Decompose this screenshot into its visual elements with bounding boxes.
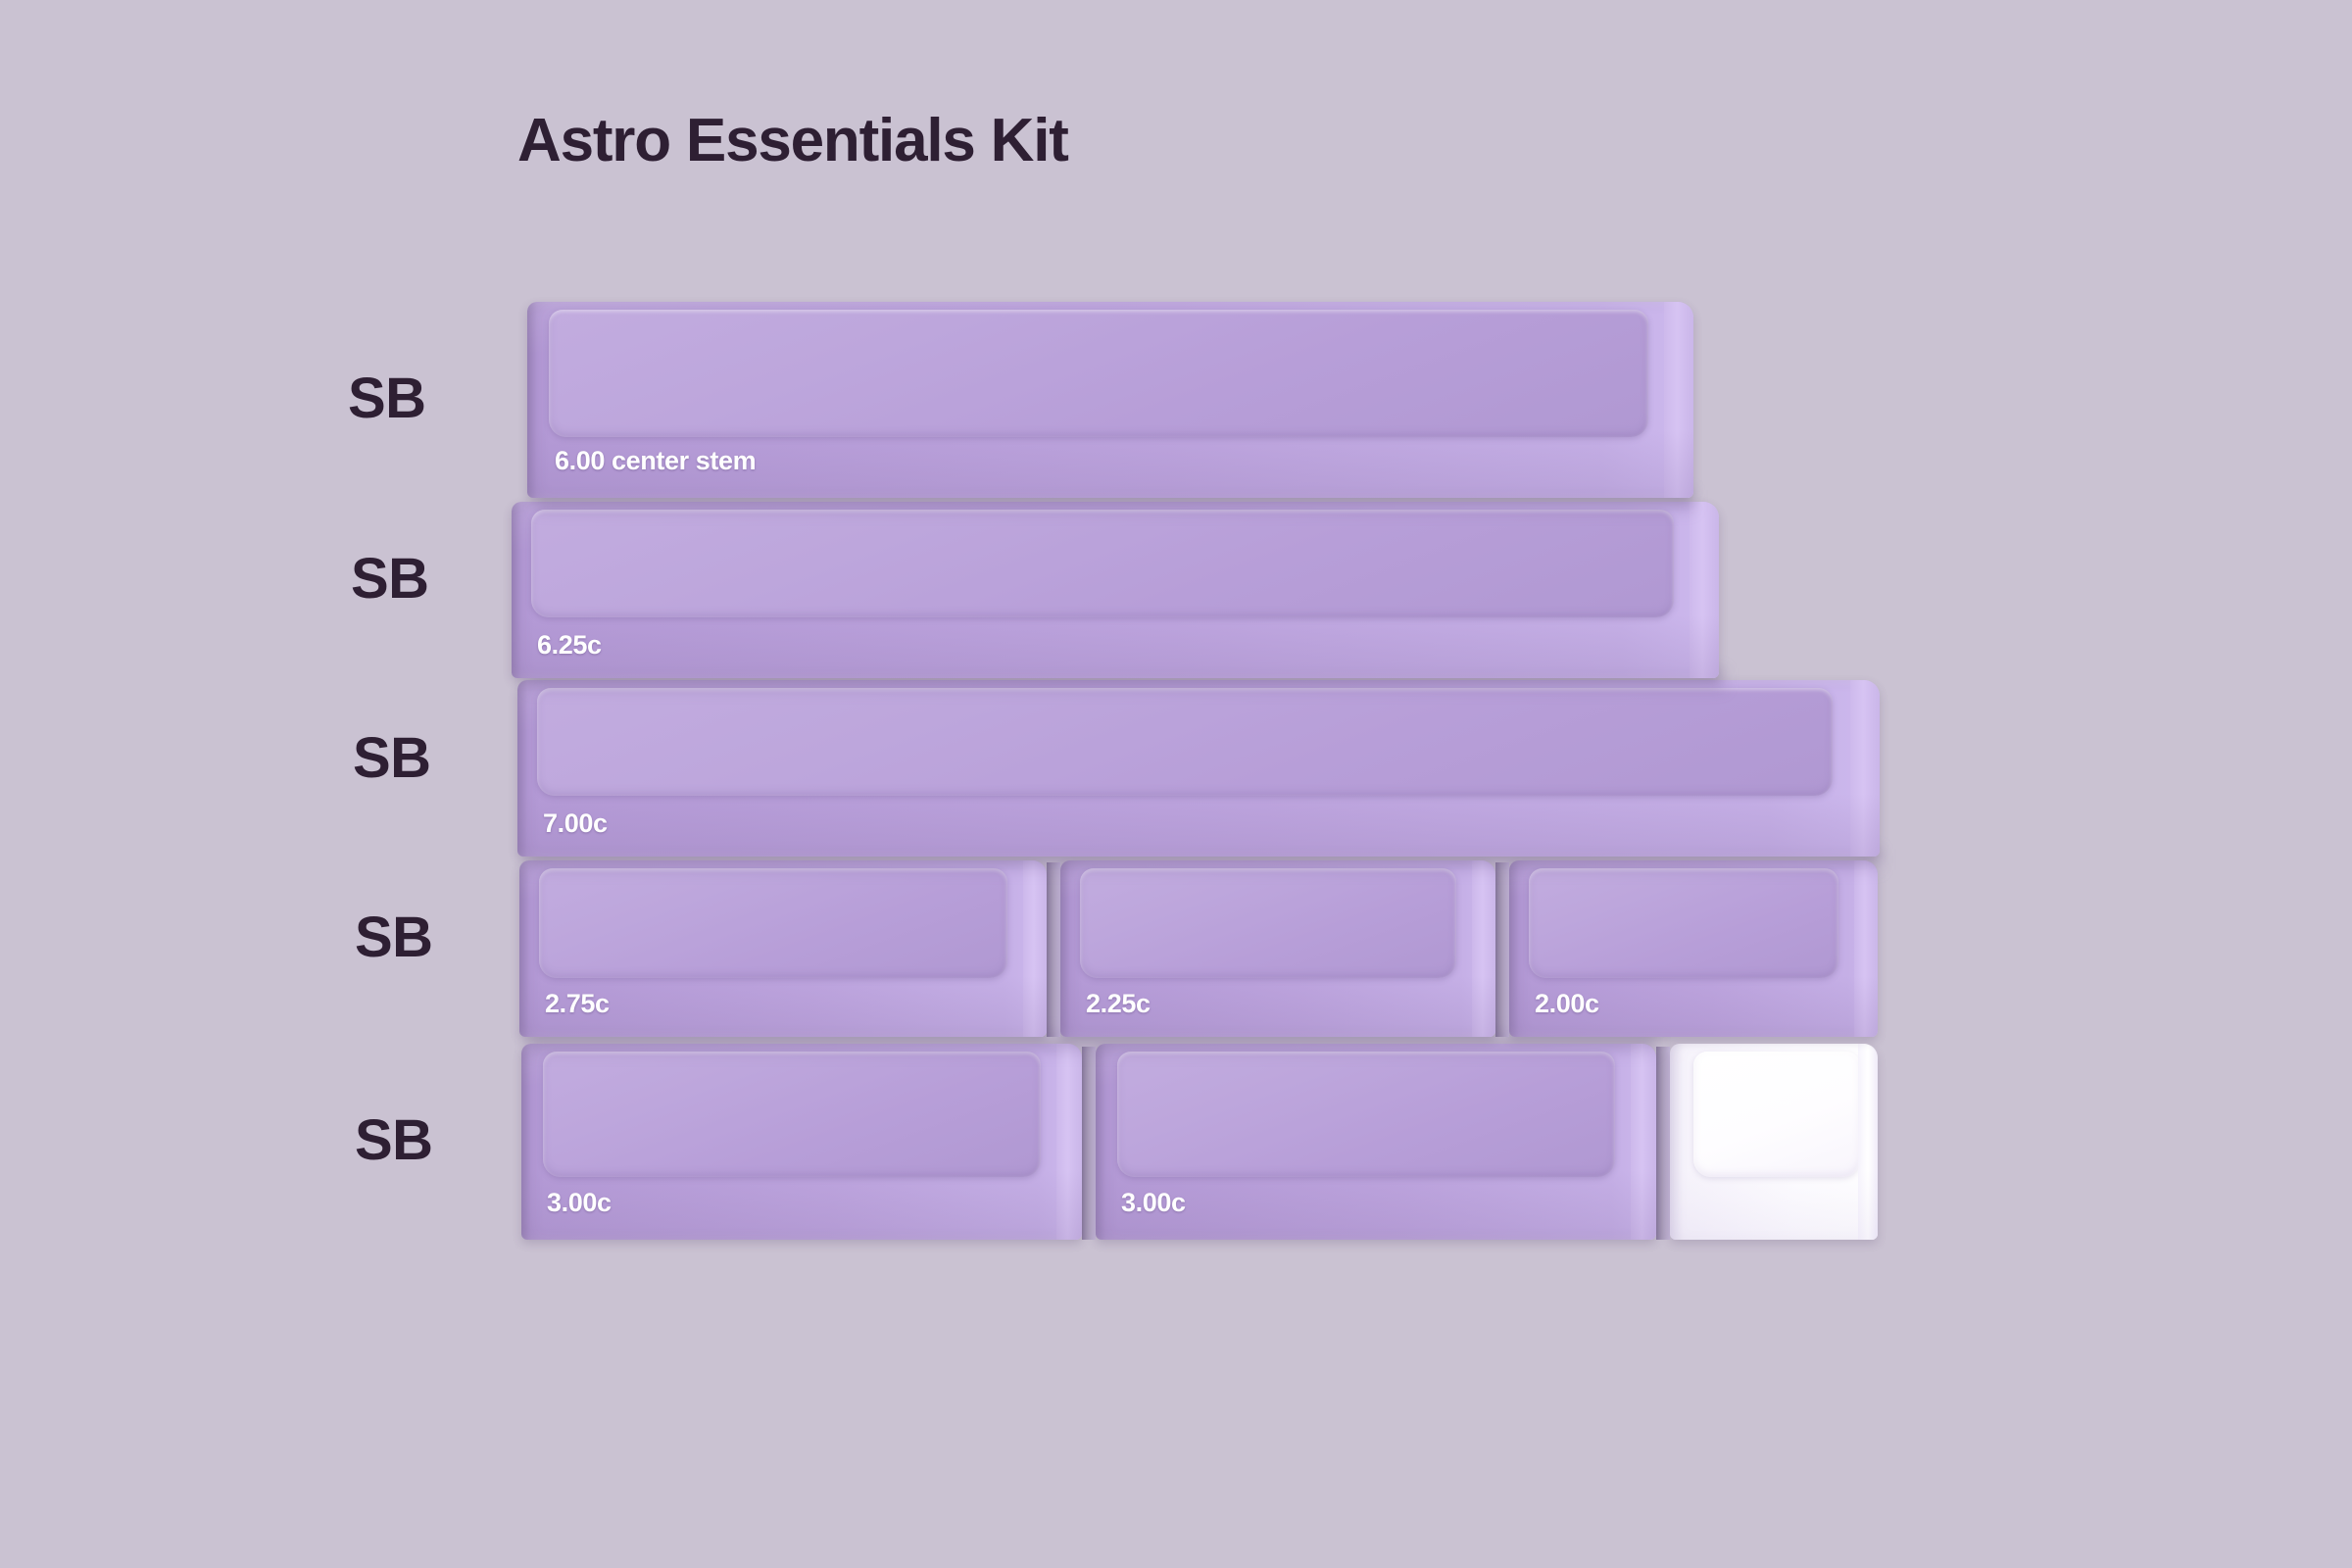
keycap-board: 3.00c 3.00c: [0, 0, 2352, 1568]
keycap-blank-white-1u[interactable]: [1670, 1044, 1878, 1240]
keycap-top-surface: [1693, 1052, 1860, 1177]
keycap-top-surface: [531, 510, 1674, 617]
keycap-seam: [1656, 1047, 1670, 1240]
keycap-top-surface: [543, 1052, 1041, 1177]
keycap-seam: [1082, 1047, 1096, 1240]
keycap-2-00c[interactable]: 2.00c: [1509, 860, 1878, 1037]
keycap-seam: [1047, 862, 1060, 1037]
keycap-2-75c[interactable]: 2.75c: [519, 860, 1047, 1037]
keycap-2-25c[interactable]: 2.25c: [1060, 860, 1495, 1037]
keycap-3-00c-left[interactable]: 3.00c: [521, 1044, 1082, 1240]
keycap-3-00c-right[interactable]: 3.00c: [1096, 1044, 1656, 1240]
keycap-top-surface: [1529, 868, 1838, 978]
keycap-top-surface: [549, 310, 1648, 437]
keycap-6-00-center-stem[interactable]: 6.00 center stem: [527, 302, 1693, 498]
keycap-kit-render: Astro Essentials Kit SB SB SB SB SB 3.00…: [0, 0, 2352, 1568]
keycap-7-00c[interactable]: 7.00c: [517, 680, 1880, 857]
keycap-top-surface: [539, 868, 1007, 978]
keycap-top-surface: [537, 688, 1833, 796]
keycap-top-surface: [1080, 868, 1456, 978]
keycap-top-surface: [1117, 1052, 1615, 1177]
keycap-6-25c[interactable]: 6.25c: [512, 502, 1719, 678]
keycap-seam: [1495, 862, 1509, 1037]
